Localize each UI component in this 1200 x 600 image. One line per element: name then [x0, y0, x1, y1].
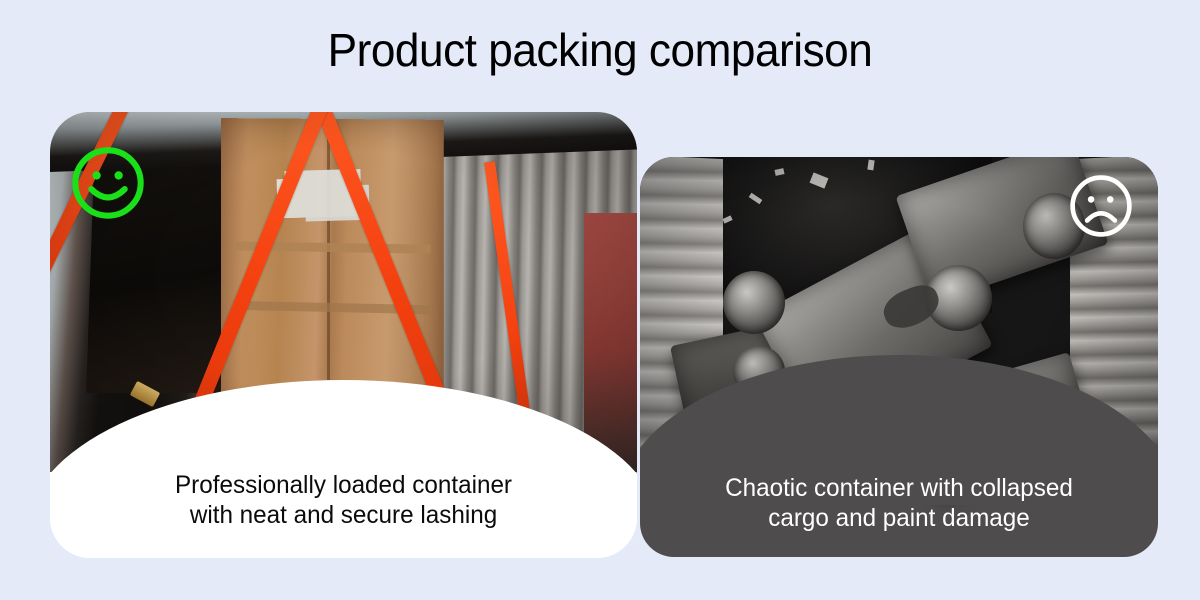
- caption-line-2: cargo and paint damage: [648, 503, 1150, 533]
- bad-card-caption: Chaotic container with collapsed cargo a…: [648, 473, 1150, 533]
- sad-face-icon: [1068, 173, 1134, 239]
- caption-line-1: Chaotic container with collapsed: [648, 473, 1150, 503]
- happy-face-icon: [70, 145, 146, 221]
- page-title: Product packing comparison: [24, 22, 1176, 78]
- comparison-graphic: Product packing comparison: [0, 0, 1200, 600]
- caption-line-2: with neat and secure lashing: [59, 500, 628, 530]
- caption-line-1: Professionally loaded container: [59, 470, 628, 500]
- good-card-caption: Professionally loaded container with nea…: [59, 470, 628, 530]
